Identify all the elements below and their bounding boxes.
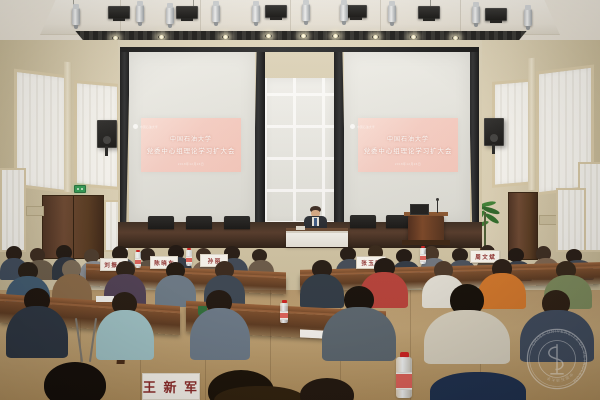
audience-body bbox=[322, 307, 396, 361]
spotlight bbox=[524, 9, 532, 26]
audience-body bbox=[190, 308, 250, 360]
stage-light bbox=[108, 6, 130, 19]
left-projection-screen: 中国石油大学 中国石油大学 党委中心组理论学习扩大会 2018年12月26日 bbox=[129, 52, 255, 224]
left-slide: 中国石油大学 中国石油大学 党委中心组理论学习扩大会 2018年12月26日 bbox=[141, 118, 241, 172]
university-seal-watermark: CHINA UNIVERSITY OF PETROLEUM 中国石油大学 bbox=[520, 322, 594, 396]
spotlight bbox=[166, 7, 174, 24]
downlight bbox=[410, 35, 417, 39]
water-bottle-front bbox=[396, 352, 412, 398]
slide-organization: 中国石油大学 bbox=[170, 134, 212, 143]
audience-body bbox=[6, 306, 68, 358]
door-sign bbox=[539, 215, 557, 225]
right-wall-speaker bbox=[484, 118, 504, 146]
table-papers bbox=[296, 226, 305, 230]
stage-chair bbox=[148, 216, 174, 229]
microphone bbox=[437, 200, 438, 213]
slide-meeting-title: 党委中心组理论学习扩大会 bbox=[364, 146, 453, 155]
slide-logo-text: 中国石油大学 bbox=[357, 125, 375, 129]
spotlight bbox=[472, 6, 480, 23]
ceiling-seam bbox=[200, 0, 201, 34]
downlight bbox=[332, 34, 339, 38]
speaker-mount bbox=[492, 144, 495, 154]
spotlight bbox=[72, 8, 80, 25]
slide-date: 2018年12月26日 bbox=[395, 162, 421, 166]
speaker-tie bbox=[314, 218, 317, 226]
wall-pilaster bbox=[64, 62, 72, 193]
ceiling-seam bbox=[380, 0, 381, 34]
spotlight bbox=[136, 5, 144, 22]
spotlight bbox=[340, 4, 348, 21]
audience-row-front bbox=[0, 286, 600, 356]
right-projection-screen: 中国石油大学 中国石油大学 党委中心组理论学习扩大会 2018年12月26日 bbox=[344, 52, 470, 224]
slide-meeting-title: 党委中心组理论学习扩大会 bbox=[147, 146, 236, 155]
audience-body bbox=[424, 310, 510, 364]
slide-logo-icon bbox=[350, 124, 355, 129]
spotlight bbox=[212, 5, 220, 22]
slide-organization: 中国石油大学 bbox=[387, 134, 429, 143]
stage-chair bbox=[386, 215, 410, 228]
foreground-head bbox=[44, 362, 106, 400]
downlight bbox=[222, 35, 229, 39]
exit-sign bbox=[74, 185, 86, 193]
stage-chair bbox=[350, 215, 376, 228]
left-wall-speaker bbox=[97, 120, 117, 148]
conference-hall-photo: 中国石油大学 中国石油大学 党委中心组理论学习扩大会 2018年12月26日 中… bbox=[0, 0, 600, 400]
spotlight bbox=[388, 5, 396, 22]
slide-date: 2018年12月26日 bbox=[178, 162, 204, 166]
ceiling-seam bbox=[290, 0, 291, 34]
speaker-mount bbox=[105, 146, 108, 156]
laptop bbox=[410, 204, 429, 215]
stage-chair bbox=[224, 216, 250, 229]
stage-light bbox=[176, 6, 198, 19]
name-placard-front: 王 新 军 bbox=[142, 373, 200, 400]
slide-logo-text: 中国石油大学 bbox=[140, 125, 158, 129]
stage-light bbox=[418, 6, 440, 19]
ceiling-seam bbox=[460, 0, 461, 34]
spotlight bbox=[302, 4, 310, 21]
downlight bbox=[265, 34, 272, 38]
stage-light bbox=[485, 8, 507, 21]
stage-light bbox=[345, 5, 367, 18]
downlight bbox=[158, 35, 165, 39]
stage-chair bbox=[186, 216, 212, 229]
right-slide: 中国石油大学 中国石油大学 党委中心组理论学习扩大会 2018年12月26日 bbox=[358, 118, 458, 172]
center-lattice-backdrop bbox=[264, 78, 334, 224]
name-placard-front-text: 王 新 军 bbox=[143, 377, 199, 396]
lectern bbox=[408, 216, 444, 242]
wall-pilaster bbox=[528, 58, 536, 191]
spotlight bbox=[252, 5, 260, 22]
downlight bbox=[300, 34, 307, 38]
downlight bbox=[372, 35, 379, 39]
door-sign bbox=[26, 206, 44, 216]
audience-body bbox=[96, 310, 154, 360]
foreground-body bbox=[430, 372, 526, 400]
stage-light bbox=[265, 5, 287, 18]
slide-logo-icon bbox=[133, 124, 138, 129]
